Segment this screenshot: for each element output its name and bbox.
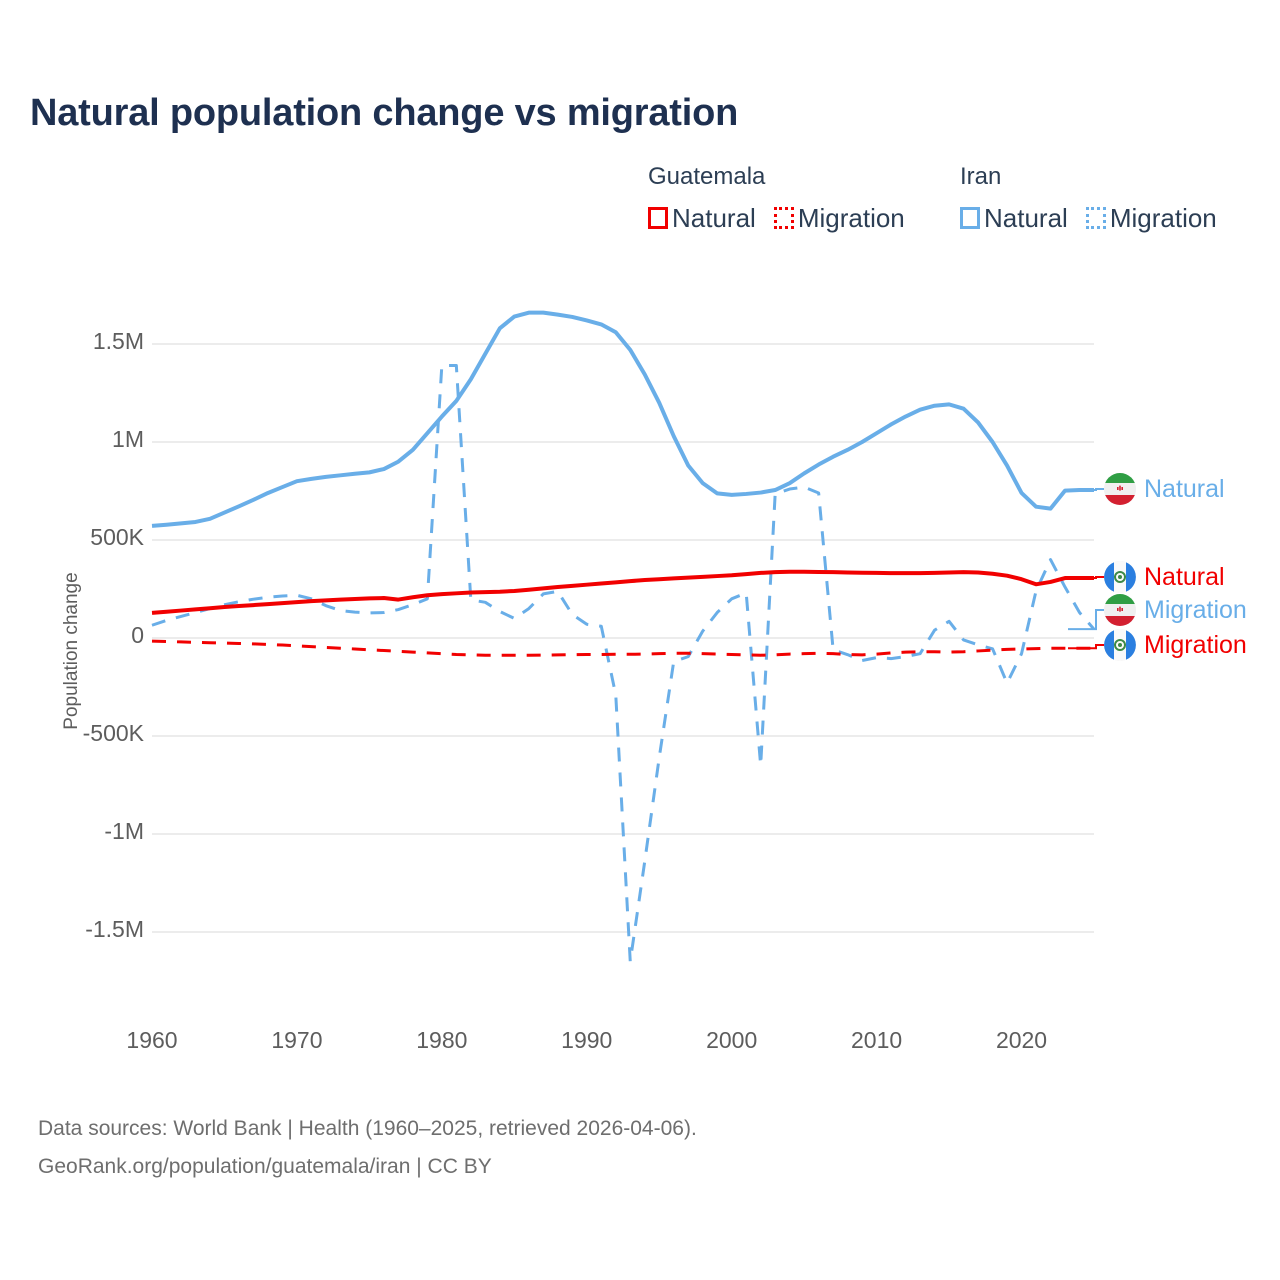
end-label-text: Natural [1144, 475, 1225, 504]
end-label-iran-migration[interactable]: Migration [1104, 594, 1247, 626]
guatemala-flag-icon [1104, 561, 1136, 593]
end-label-iran-natural[interactable]: Natural [1104, 473, 1225, 505]
footer-line-2: GeoRank.org/population/guatemala/iran | … [38, 1148, 697, 1186]
end-label-leader-line [1068, 489, 1104, 490]
grid-lines [152, 344, 1094, 932]
series-line-iran-migration [152, 366, 1094, 962]
guatemala-flag-icon [1104, 629, 1136, 661]
footer-line-1: Data sources: World Bank | Health (1960–… [38, 1110, 697, 1148]
end-label-text: Migration [1144, 596, 1247, 625]
end-label-text: Migration [1144, 631, 1247, 660]
plot-area [0, 0, 1280, 1280]
end-label-guatemala-natural[interactable]: Natural [1104, 561, 1225, 593]
series-line-guatemala-natural [152, 572, 1094, 613]
iran-flag-icon [1104, 473, 1136, 505]
end-label-leader-line [1068, 645, 1104, 648]
end-label-guatemala-migration[interactable]: Migration [1104, 629, 1247, 661]
end-label-text: Natural [1144, 563, 1225, 592]
iran-flag-icon [1104, 594, 1136, 626]
footer-credits: Data sources: World Bank | Health (1960–… [38, 1110, 697, 1186]
chart-container: Natural population change vs migration G… [0, 0, 1280, 1280]
end-label-leader-line [1068, 610, 1104, 629]
series-line-guatemala-migration [152, 641, 1094, 655]
end-label-leader-line [1068, 577, 1104, 578]
